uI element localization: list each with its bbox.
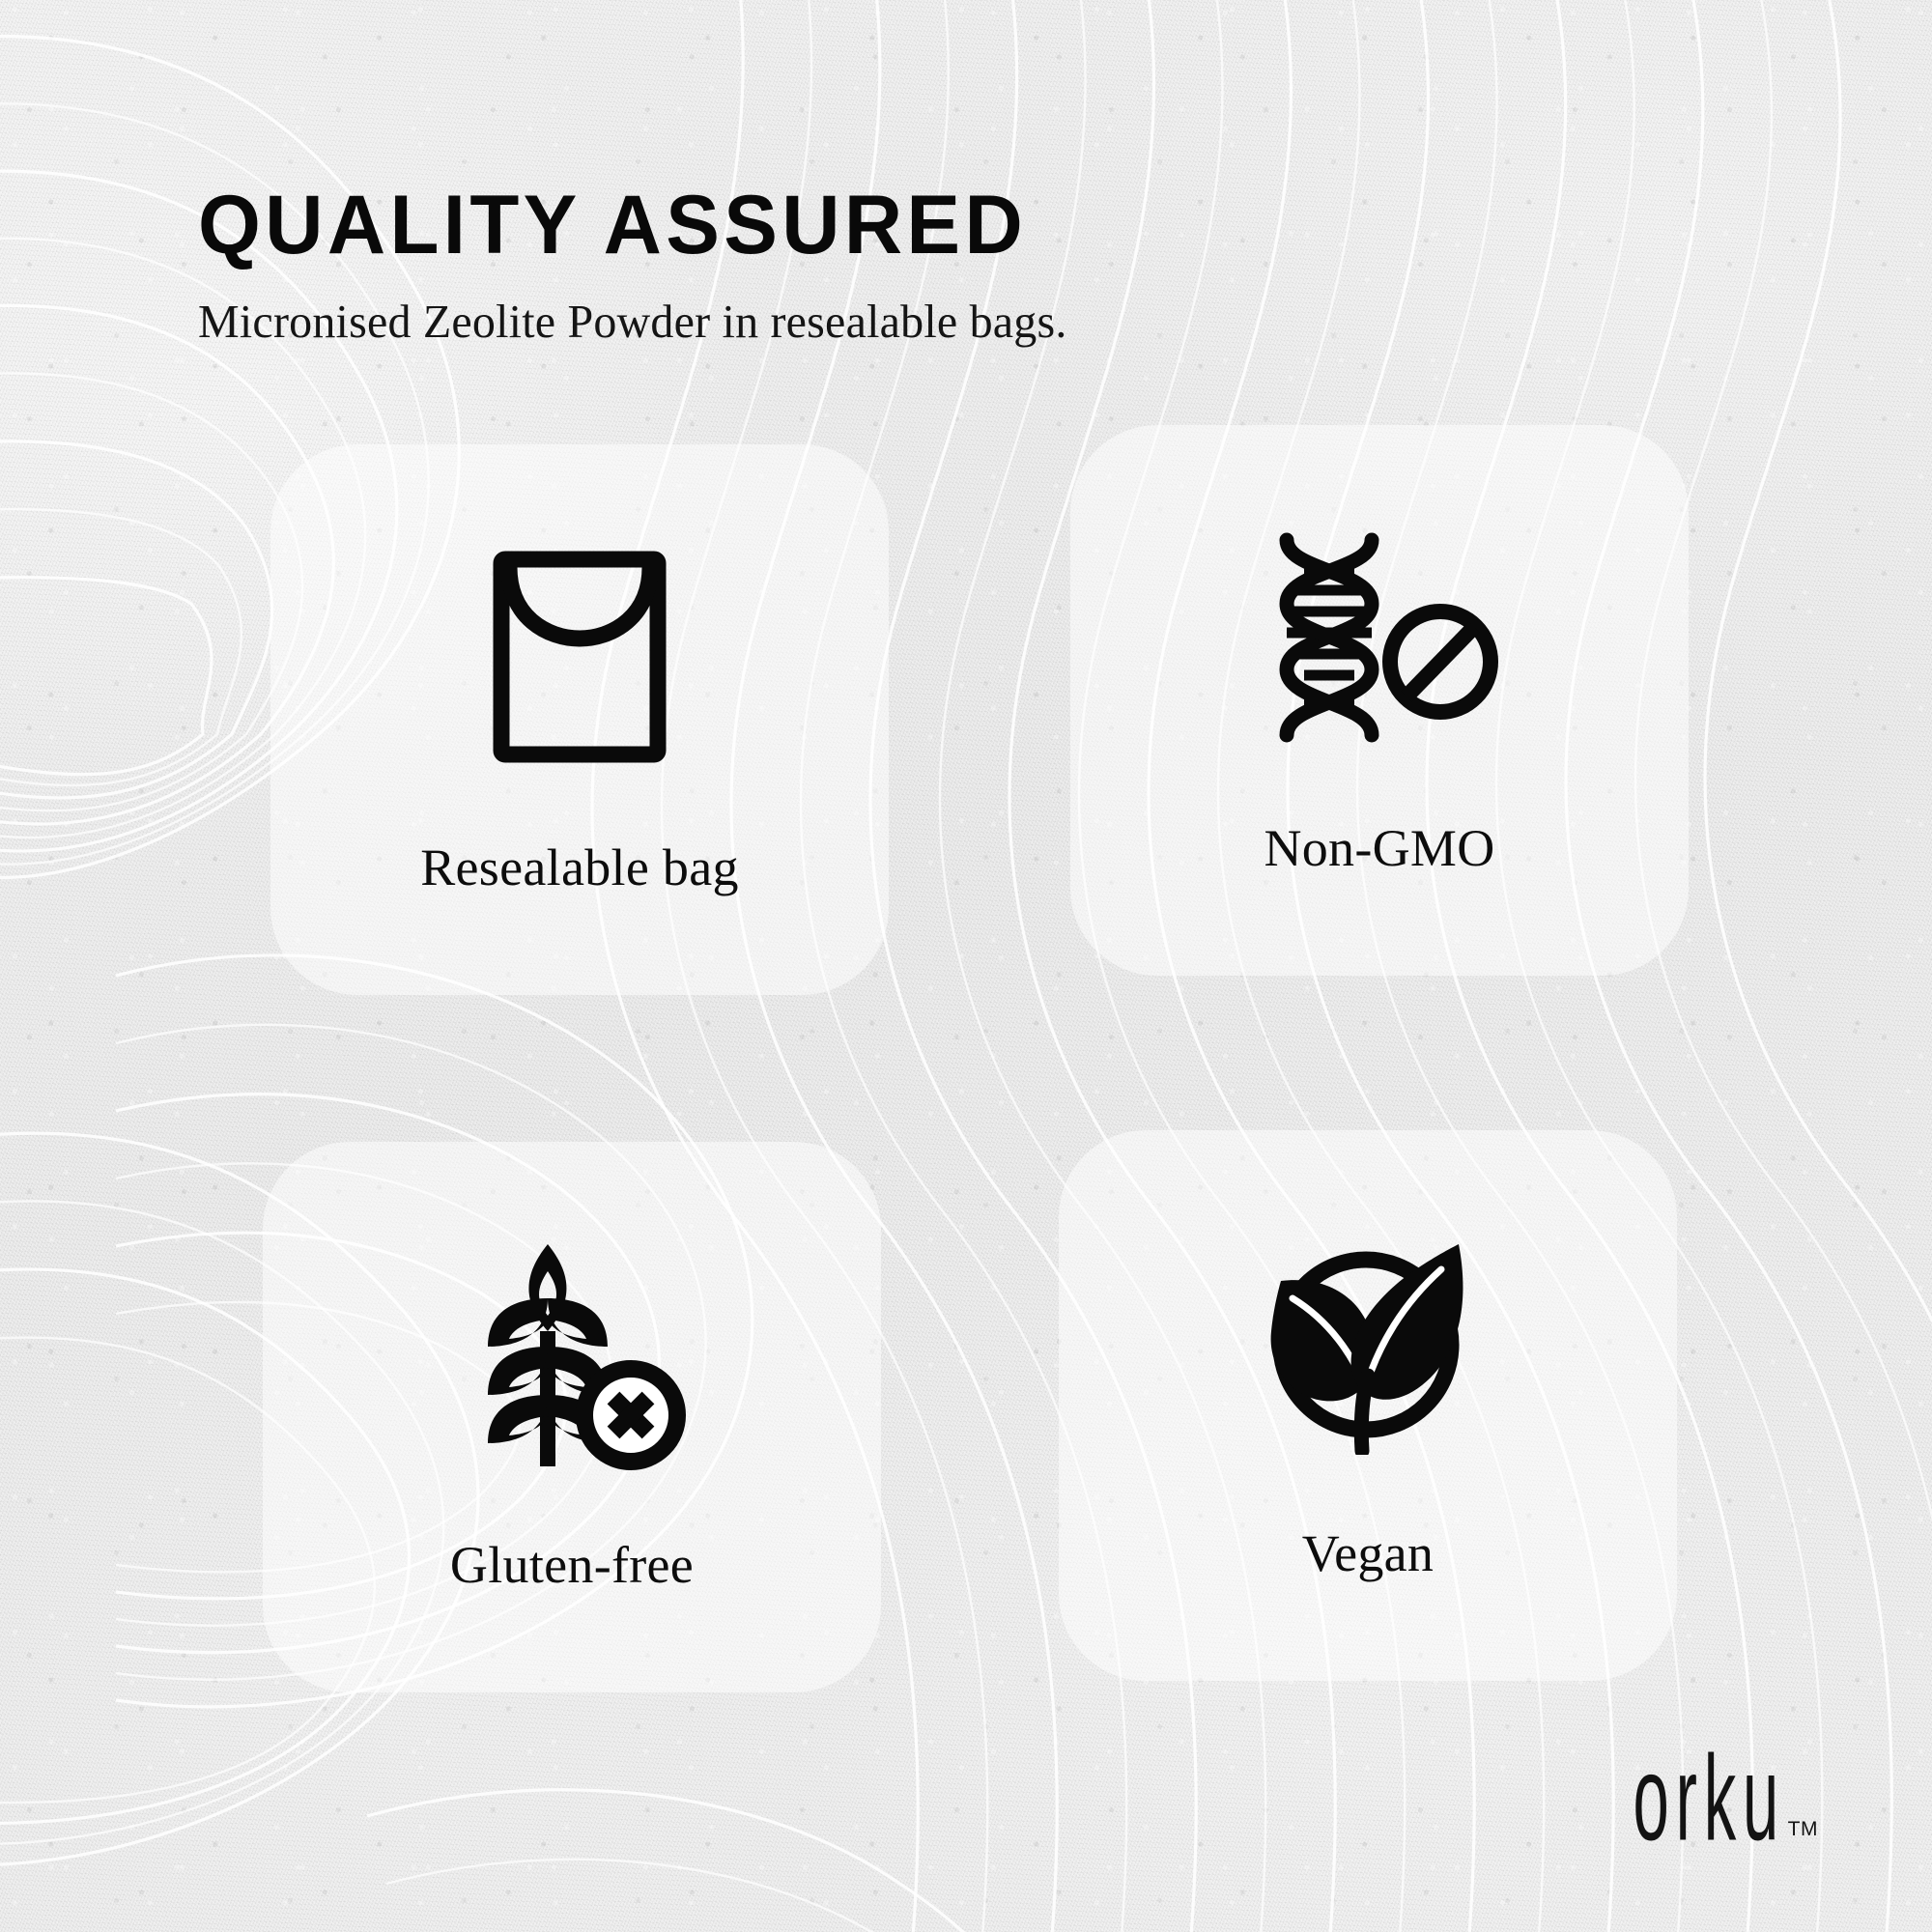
page-subtitle: Micronised Zeolite Powder in resealable … bbox=[198, 294, 1429, 349]
brand-logo[interactable]: orku TM bbox=[1540, 1756, 1818, 1857]
feature-grid: Resealable bag bbox=[290, 483, 1662, 1671]
feature-label: Resealable bag bbox=[420, 838, 739, 897]
trademark-symbol: TM bbox=[1788, 1818, 1818, 1841]
feature-card-non-gmo[interactable]: Non-GMO bbox=[1070, 425, 1689, 976]
brand-name: orku bbox=[1633, 1741, 1785, 1857]
feature-card-vegan[interactable]: Vegan bbox=[1059, 1130, 1677, 1681]
feature-label: Vegan bbox=[1302, 1523, 1434, 1583]
poster-canvas: QUALITY ASSURED Micronised Zeolite Powde… bbox=[0, 0, 1932, 1932]
header: QUALITY ASSURED Micronised Zeolite Powde… bbox=[198, 184, 1454, 349]
dna-prohibited-icon bbox=[1254, 517, 1505, 758]
feature-label: Gluten-free bbox=[450, 1535, 694, 1595]
page-title: QUALITY ASSURED bbox=[198, 184, 1416, 267]
leaf-circle-icon bbox=[1252, 1222, 1484, 1463]
feature-card-gluten-free[interactable]: Gluten-free bbox=[263, 1142, 881, 1692]
feature-label: Non-GMO bbox=[1264, 818, 1494, 878]
wheat-crossed-out-icon bbox=[451, 1234, 693, 1475]
feature-card-resealable-bag[interactable]: Resealable bag bbox=[270, 444, 889, 995]
resealable-bag-icon bbox=[488, 536, 671, 778]
